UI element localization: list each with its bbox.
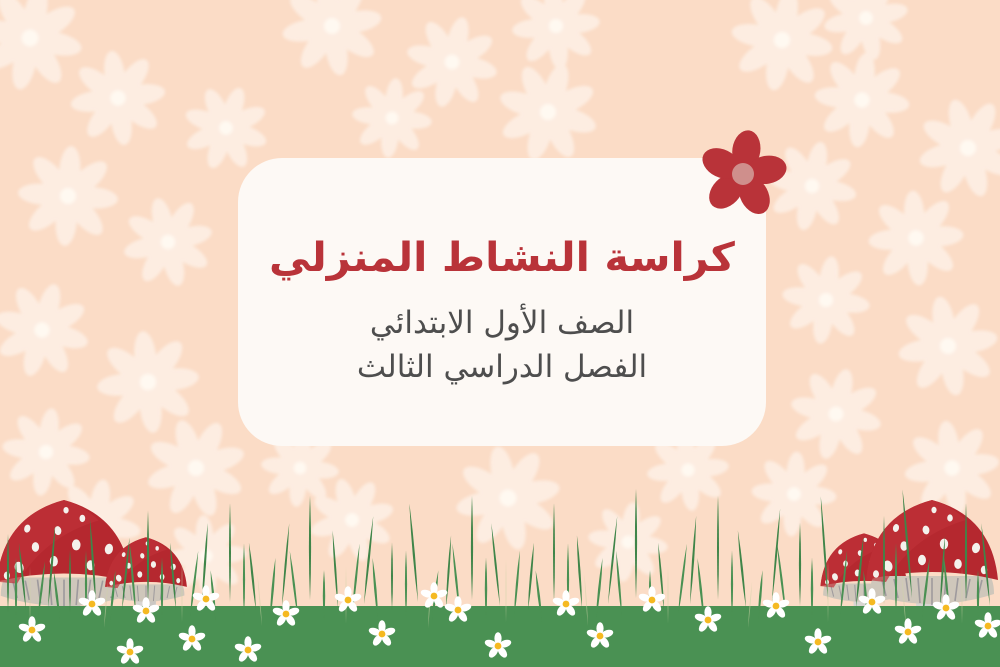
subtitle-term: الفصل الدراسي الثالث (357, 345, 647, 389)
title-card-content: كراسة النشاط المنزلي الصف الأول الابتدائ… (238, 158, 766, 446)
flower-icon (697, 128, 789, 220)
workbook-cover: كراسة النشاط المنزلي الصف الأول الابتدائ… (0, 0, 1000, 667)
page-title: كراسة النشاط المنزلي (269, 233, 735, 283)
subtitle-grade: الصف الأول الابتدائي (370, 301, 634, 345)
